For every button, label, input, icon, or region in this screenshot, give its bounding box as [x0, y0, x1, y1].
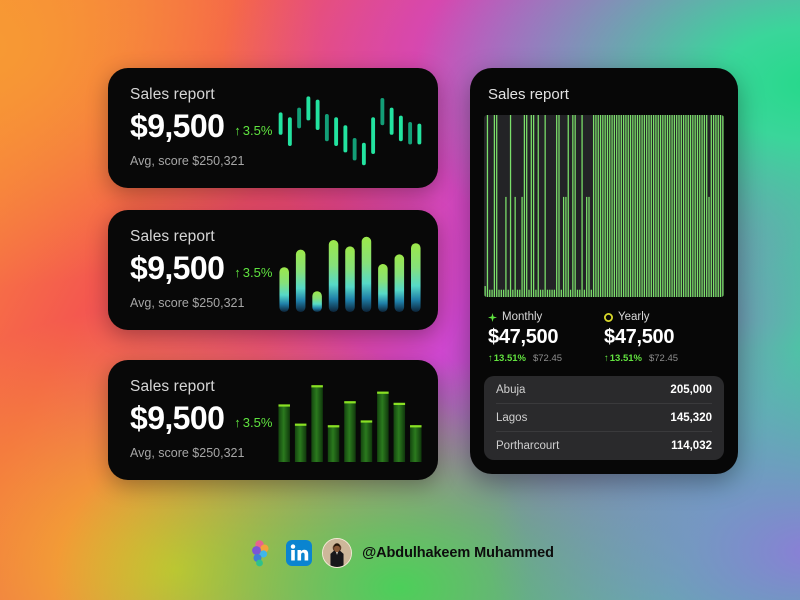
stat-label: Yearly — [618, 311, 650, 323]
stat-value: $47,500 — [488, 326, 604, 349]
stat-delta-value: 13.51% — [494, 353, 526, 364]
stat-delta: ↑ 13.51% — [604, 353, 642, 364]
stats-row: Monthly $47,500 ↑ 13.51% $72.45 Yearly — [484, 311, 724, 364]
waveform-chart-svg — [484, 115, 724, 297]
sales-report-card-candlestick[interactable]: Sales report $9,500 ↑ 3.5% Avg, score $2… — [108, 68, 438, 188]
capped-bar-chart-svg — [276, 382, 424, 462]
stat-amount: $72.45 — [533, 353, 562, 364]
linkedin-icon[interactable] — [284, 538, 314, 568]
card-delta: ↑ 3.5% — [234, 258, 272, 280]
card-value: $9,500 — [130, 402, 224, 436]
sparkle-icon — [488, 313, 497, 322]
circle-icon — [604, 313, 613, 322]
table-cell-city: Lagos — [496, 412, 527, 424]
candlestick-chart-svg — [276, 90, 424, 170]
arrow-up-icon: ↑ — [234, 124, 241, 137]
stat-header: Yearly — [604, 311, 720, 323]
card-delta-value: 3.5% — [243, 265, 273, 280]
candlestick-chart — [276, 90, 424, 170]
stat-label: Monthly — [502, 311, 542, 323]
dashboard-background: Sales report $9,500 ↑ 3.5% Avg, score $2… — [0, 0, 800, 600]
card-value: $9,500 — [130, 252, 224, 286]
stat-subrow: ↑ 13.51% $72.45 — [604, 353, 720, 364]
stat-amount: $72.45 — [649, 353, 678, 364]
sales-report-panel[interactable]: Sales report Monthly $47,500 ↑ 13.51% — [470, 68, 738, 474]
sales-report-card-capped-bars[interactable]: Sales report $9,500 ↑ 3.5% Avg, score $2… — [108, 360, 438, 480]
stat-value: $47,500 — [604, 326, 720, 349]
panel-title: Sales report — [488, 86, 722, 103]
arrow-up-icon: ↑ — [234, 266, 241, 279]
stat-delta-value: 13.51% — [610, 353, 642, 364]
card-delta-value: 3.5% — [243, 123, 273, 138]
footer: @Abdulhakeem Muhammed — [0, 538, 800, 568]
arrow-up-icon: ↑ — [234, 416, 241, 429]
stat-monthly[interactable]: Monthly $47,500 ↑ 13.51% $72.45 — [488, 311, 604, 364]
stat-delta: ↑ 13.51% — [488, 353, 526, 364]
table-cell-value: 205,000 — [670, 384, 712, 396]
gradient-bar-chart-svg — [276, 232, 424, 312]
city-table: Abuja 205,000 Lagos 145,320 Portharcourt… — [484, 376, 724, 460]
card-value: $9,500 — [130, 110, 224, 144]
stat-subrow: ↑ 13.51% $72.45 — [488, 353, 604, 364]
social-handle: @Abdulhakeem Muhammed — [362, 545, 554, 561]
waveform-chart — [484, 115, 724, 297]
arrow-up-icon: ↑ — [604, 353, 609, 364]
avatar[interactable] — [322, 538, 352, 568]
table-cell-value: 114,032 — [671, 440, 712, 452]
sales-report-card-gradient-bars[interactable]: Sales report $9,500 ↑ 3.5% Avg, score $2… — [108, 210, 438, 330]
arrow-up-icon: ↑ — [488, 353, 493, 364]
capped-bar-chart — [276, 382, 424, 462]
table-row[interactable]: Portharcourt 114,032 — [496, 432, 712, 460]
gradient-bar-chart — [276, 232, 424, 312]
card-delta: ↑ 3.5% — [234, 116, 272, 138]
stat-yearly[interactable]: Yearly $47,500 ↑ 13.51% $72.45 — [604, 311, 720, 364]
table-row[interactable]: Lagos 145,320 — [496, 404, 712, 432]
dribbble-bubbles-icon[interactable] — [246, 538, 276, 568]
table-cell-city: Portharcourt — [496, 440, 559, 452]
table-row[interactable]: Abuja 205,000 — [496, 376, 712, 404]
table-cell-value: 145,320 — [670, 412, 712, 424]
card-delta-value: 3.5% — [243, 415, 273, 430]
table-cell-city: Abuja — [496, 384, 525, 396]
card-delta: ↑ 3.5% — [234, 408, 272, 430]
avatar-image — [323, 539, 351, 567]
stat-header: Monthly — [488, 311, 604, 323]
